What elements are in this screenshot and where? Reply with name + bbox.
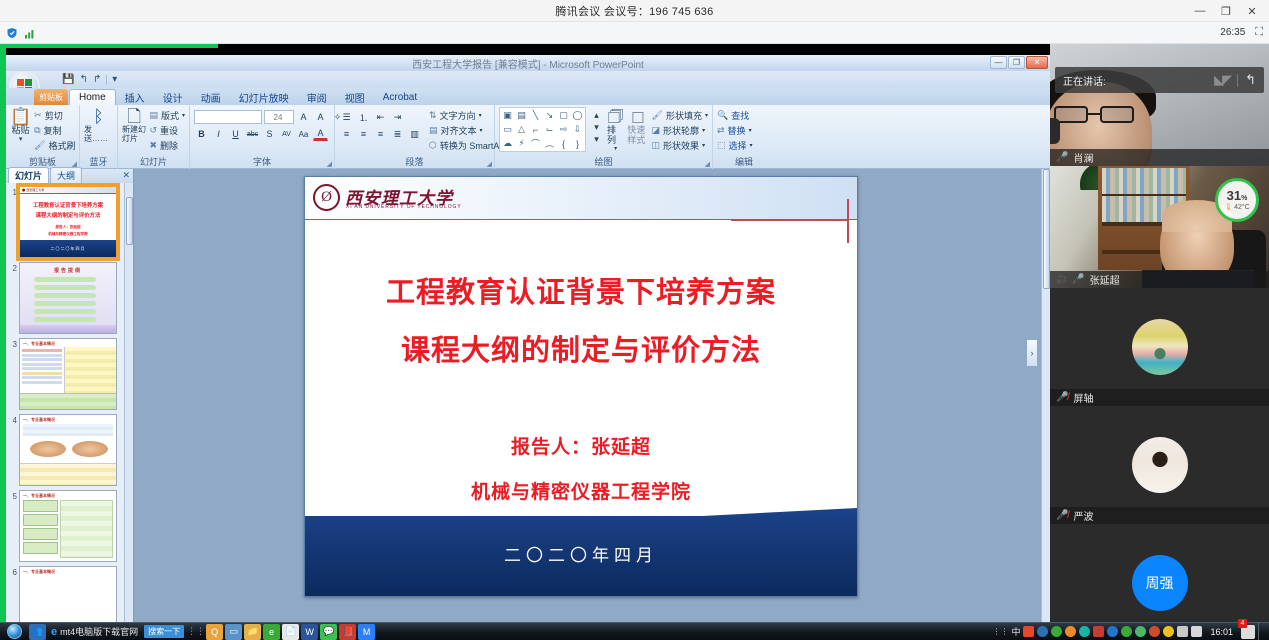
participant-avatar-tile[interactable]: 🎤̸ 严波 xyxy=(1050,406,1269,524)
pane-tab-slides[interactable]: 幻灯片 xyxy=(8,167,49,183)
meeting-timer: 26:35 xyxy=(1220,27,1245,38)
new-slide-button[interactable]: 🗋 新建幻灯片 xyxy=(122,107,146,144)
shape-effects-label: 形状效果 xyxy=(663,139,699,152)
shape-arrow-icon[interactable]: ↘ xyxy=(543,109,556,122)
copy-icon: ⧉ xyxy=(34,125,40,136)
start-orb-icon xyxy=(7,624,22,639)
window-icon: ▭ xyxy=(225,624,242,640)
battery-status-widget: 31% 🌡42°C xyxy=(1215,178,1259,222)
sogou-icon[interactable] xyxy=(1023,626,1034,637)
shape-triangle-icon[interactable]: △ xyxy=(515,123,528,136)
taskbar-item-folder[interactable]: 📁 xyxy=(244,624,261,640)
reset-icon: ↺ xyxy=(149,125,157,136)
shape-right-arrow-icon[interactable]: ⇨ xyxy=(557,123,570,136)
find-icon: 🔍 xyxy=(717,110,728,121)
camera-icon[interactable]: 🎥 xyxy=(1056,274,1067,285)
delete-icon: ✖ xyxy=(149,140,157,151)
shape-brace-left-icon[interactable]: { xyxy=(557,137,570,150)
network-icon[interactable] xyxy=(1177,626,1188,637)
slides-small-buttons: ▤版式▾ ↺重设 ✖删除 xyxy=(149,107,185,152)
teal-icon[interactable] xyxy=(1079,626,1090,637)
shield-icon[interactable] xyxy=(6,27,18,39)
thumbnail-scrollbar[interactable] xyxy=(124,183,133,622)
align-text-icon: ▤ xyxy=(429,125,438,136)
shape-fill-button[interactable]: 🖌形状填充▾ xyxy=(652,109,708,122)
shape-line-icon[interactable]: ╲ xyxy=(529,109,542,122)
font-group-label: 字体 xyxy=(190,155,334,168)
restore-button[interactable]: ❐ xyxy=(1213,0,1239,22)
brush-icon: 🖌 xyxy=(34,140,45,151)
canvas-scrollbar-thumb[interactable] xyxy=(1043,169,1050,289)
system-tray: ⋮⋮ 中 16:01 4 xyxy=(992,623,1269,640)
redo-icon[interactable]: ↱ xyxy=(93,74,101,85)
smartart-icon: ⬡ xyxy=(429,140,437,151)
ime-icon[interactable]: 中 xyxy=(1011,625,1020,638)
cut-button[interactable]: ✂剪切 xyxy=(34,109,75,122)
shrink-font-button[interactable]: A xyxy=(313,110,328,124)
columns-button[interactable]: ▥ xyxy=(407,127,422,141)
ie-window-title: mt4电脑版下载官网 xyxy=(60,625,138,638)
shapes-more-icon[interactable]: ▾ xyxy=(589,133,604,145)
slide-presenter: 报告人：张延超 xyxy=(305,432,857,459)
shapes-gallery[interactable]: ▣ ▤ ╲ ↘ ▢ ◯ ▭ △ ⌐ ⌙ ⇨ ⇩ ☁ ⚡ ⌒ xyxy=(499,107,586,152)
cut-label: 剪切 xyxy=(45,109,63,122)
shape-arc-icon[interactable]: ︵ xyxy=(543,137,556,150)
close-button[interactable]: ✕ xyxy=(1239,0,1265,22)
participant-video-tile[interactable]: 正在讲话: ◣◤ ↰ 🎤 肖澜 xyxy=(1050,44,1269,166)
thumbnail-number: 4 xyxy=(8,414,17,486)
pane-tab-strip: 幻灯片 大纲 ✕ xyxy=(6,169,133,183)
replace-label: 替换 xyxy=(728,124,746,137)
thumbnail-preview-4[interactable]: 一、专业基本情况 xyxy=(19,414,117,486)
paragraph-row-1: ☰ ⒈ ⇤ ⇥ xyxy=(339,110,422,124)
powerpoint-window-controls: — ❐ ✕ xyxy=(990,56,1048,69)
powerpoint-title-bar: 西安工程大学报告 [兼容模式] - Microsoft PowerPoint —… xyxy=(6,55,1050,71)
font-dialog-launcher[interactable]: ◢ xyxy=(327,160,332,168)
format-painter-label: 格式刷 xyxy=(49,139,76,152)
align-center-button[interactable]: ≡ xyxy=(356,127,371,141)
paste-button[interactable]: 📋 粘贴 ▾ xyxy=(10,107,31,144)
reset-button[interactable]: ↺重设 xyxy=(149,124,185,137)
collapse-chevrons-icon[interactable]: ◣◤ xyxy=(1214,72,1230,88)
undo-icon[interactable]: ↰ xyxy=(79,74,87,85)
delete-slide-button[interactable]: ✖删除 xyxy=(149,139,185,152)
drawing-dialog-launcher[interactable]: ◢ xyxy=(705,160,710,168)
shapes-scroll-up-icon[interactable]: ▴ xyxy=(589,109,604,121)
tab-animations[interactable]: 动画 xyxy=(192,89,230,105)
font-name-combo[interactable] xyxy=(194,110,262,124)
paste-icon: 📋 xyxy=(10,108,31,126)
notification-badge: 4 xyxy=(1238,619,1247,628)
microphone-muted-icon[interactable]: 🎤̸ xyxy=(1056,392,1068,403)
shapes-scroll-down-icon[interactable]: ▾ xyxy=(589,121,604,133)
taskbar-item-window[interactable]: ▭ xyxy=(225,624,242,640)
customize-qat-icon[interactable]: ▾ xyxy=(112,74,117,85)
arrange-dropdown-arrow[interactable]: ▾ xyxy=(614,146,617,153)
thumbnail-item[interactable]: 4 一、专业基本情况 xyxy=(8,414,122,486)
ribbon-group-slides: 🗋 新建幻灯片 ▤版式▾ ↺重设 ✖删除 幻灯片 xyxy=(118,105,190,169)
avatar xyxy=(1132,319,1188,375)
font-size-combo[interactable]: 24 xyxy=(264,110,294,124)
word-icon: W xyxy=(301,624,318,640)
delete-label: 删除 xyxy=(160,139,178,152)
bluetooth-send-button[interactable]: ᛒ 发送…… xyxy=(84,107,113,144)
slide-canvas: Ø 西安理工大学 XI'AN UNIVERSITY OF TECHNOLOGY … xyxy=(134,169,1050,622)
meeting-timer-area: 26:35 ⛶ xyxy=(1220,26,1263,39)
taskbar-item-meeting[interactable]: M xyxy=(358,624,375,640)
meeting-title: 腾讯会议 会议号：196 745 636 xyxy=(555,3,713,19)
font-row-2: B I U abc S AV Aa A xyxy=(194,127,328,141)
thumbnail-preview-3[interactable]: 一、专业基本情况 xyxy=(19,338,117,410)
taskbar-search-box[interactable]: 搜索一下 ⋮⋮ xyxy=(144,624,205,640)
shapes-scroll-buttons: ▴ ▾ ▾ xyxy=(589,107,604,145)
clipboard-small-buttons: ✂剪切 ⧉复制 🖌格式刷 xyxy=(34,107,75,152)
drawing-small-buttons: 🖌形状填充▾ ◪形状轮廓▾ ◫形状效果▾ xyxy=(652,107,708,152)
slide-title-line-1: 工程教育认证背景下培养方案 xyxy=(305,269,857,311)
current-slide[interactable]: Ø 西安理工大学 XI'AN UNIVERSITY OF TECHNOLOGY … xyxy=(304,176,858,597)
document-icon: 📄 xyxy=(282,624,299,640)
slide-decor-vertical xyxy=(847,199,849,243)
meeting-title-bar: 腾讯会议 会议号：196 745 636 — ❐ ✕ xyxy=(0,0,1269,22)
slides-thumbnail-pane: 幻灯片 大纲 ✕ 1 ⬤ 西安理工大学 工程教育认证背景下培养方案 课程大纲的制… xyxy=(6,169,134,622)
bluetooth-group-label: 蓝牙 xyxy=(80,155,117,168)
taskbar-item-wechat[interactable]: 💬 xyxy=(320,624,337,640)
thumbnail-item[interactable]: 2 报告提纲 xyxy=(8,262,122,334)
start-button[interactable] xyxy=(0,623,28,640)
paste-dropdown-arrow[interactable]: ▾ xyxy=(19,136,23,144)
ribbon-group-drawing: ▣ ▤ ╲ ↘ ▢ ◯ ▭ △ ⌐ ⌙ ⇨ ⇩ ☁ ⚡ ⌒ xyxy=(495,105,713,169)
ribbon-tab-strip: 剪贴板 Home 插入 设计 动画 幻灯片放映 审阅 视图 Acrobat xyxy=(6,88,1050,105)
arrange-button[interactable]: 🗇 排列 ▾ xyxy=(607,107,624,152)
microphone-muted-icon[interactable]: 🎤̸ xyxy=(1056,510,1068,521)
ribbon-group-paragraph: ☰ ⒈ ⇤ ⇥ ≡ ≡ ≡ ≣ ▥ xyxy=(335,105,495,169)
taskbar-item-browser[interactable]: e xyxy=(263,624,280,640)
shape-down-arrow-icon[interactable]: ⇩ xyxy=(571,123,584,136)
next-slide-arrow-icon[interactable]: › xyxy=(1026,339,1038,367)
grow-font-button[interactable]: A xyxy=(296,110,311,124)
shape-outline-label: 形状轮廓 xyxy=(663,124,699,137)
meeting-window-controls: — ❐ ✕ xyxy=(1187,0,1265,22)
bold-button[interactable]: B xyxy=(194,127,209,141)
editing-group-label: 编辑 xyxy=(713,155,775,168)
taskbar-item-reader[interactable]: 📕 xyxy=(339,624,356,640)
canvas-scrollbar[interactable] xyxy=(1041,169,1050,622)
participant-name: 严波 xyxy=(1073,508,1093,523)
replace-button[interactable]: ⇄替换▾ xyxy=(717,124,753,137)
arrange-icon: 🗇 xyxy=(608,108,624,126)
thumbnail-preview-1[interactable]: ⬤ 西安理工大学 工程教育认证背景下培养方案 课程大纲的制定与评价方法 报告人：… xyxy=(19,186,117,258)
people-icon: 👥 xyxy=(29,624,46,640)
taskbar-item-people[interactable]: 👥 xyxy=(29,624,46,640)
microphone-icon[interactable]: 🎤 xyxy=(1056,152,1068,163)
ie-icon: e xyxy=(51,626,57,638)
system-clock[interactable]: 16:01 xyxy=(1205,627,1238,637)
shape-elbow2-icon[interactable]: ⌙ xyxy=(543,123,556,136)
shape-curve-icon[interactable]: ⌒ xyxy=(529,137,542,150)
paragraph-align-buttons: ☰ ⒈ ⇤ ⇥ ≡ ≡ ≡ ≣ ▥ xyxy=(339,107,422,141)
paragraph-dialog-launcher[interactable]: ◢ xyxy=(487,160,492,168)
shape-rect-icon[interactable]: ▣ xyxy=(501,109,514,122)
avatar xyxy=(1132,437,1188,493)
text-direction-label: 文字方向 xyxy=(440,109,476,122)
layout-button[interactable]: ▤版式▾ xyxy=(149,109,185,122)
windows-taskbar: 👥 e mt4电脑版下载官网 搜索一下 ⋮⋮ Q ▭ 📁 e 📄 W 💬 📕 M… xyxy=(0,622,1269,640)
thumbnail-item[interactable]: 6 一、专业基本情况 xyxy=(8,566,122,622)
show-desktop-button[interactable] xyxy=(1258,623,1266,640)
find-button[interactable]: 🔍查找 xyxy=(717,109,753,122)
character-spacing-button[interactable]: AV xyxy=(279,127,294,141)
scissors-icon: ✂ xyxy=(34,110,42,121)
text-direction-icon: ⇅ xyxy=(429,110,437,121)
thumbnail-item[interactable]: 5 一、专业基本情况 xyxy=(8,490,122,562)
taskbar-item-qq[interactable]: Q xyxy=(206,624,223,640)
shared-screen-area: 西安工程大学报告 [兼容模式] - Microsoft PowerPoint —… xyxy=(0,44,1050,622)
powerpoint-document-title: 西安工程大学报告 [兼容模式] - Microsoft PowerPoint xyxy=(412,56,644,71)
thermometer-icon: 🌡 xyxy=(1224,203,1233,211)
battery-percent-value: 31 xyxy=(1227,188,1241,203)
tab-design[interactable]: 设计 xyxy=(154,89,192,105)
meeting-icon: M xyxy=(358,624,375,640)
change-case-button[interactable]: Aa xyxy=(296,127,311,141)
thumbnail-preview-6[interactable]: 一、专业基本情况 xyxy=(19,566,117,622)
tab-acrobat-orange[interactable]: 剪贴板 xyxy=(34,89,68,105)
thumbnail-number: 3 xyxy=(8,338,17,410)
minimize-button[interactable]: — xyxy=(1187,0,1213,22)
battery-temperature: 🌡42°C xyxy=(1224,203,1250,211)
speaking-indicator-bar: 正在讲话: ◣◤ ↰ xyxy=(1055,67,1264,93)
slide-title-line-2: 课程大纲的制定与评价方法 xyxy=(305,327,857,369)
books-row-1 xyxy=(1102,168,1186,194)
shape-elbow-icon[interactable]: ⌐ xyxy=(529,123,542,136)
qq-icon: Q xyxy=(206,624,223,640)
copy-button[interactable]: ⧉复制 xyxy=(34,124,75,137)
align-left-button[interactable]: ≡ xyxy=(339,127,354,141)
tab-review[interactable]: 审阅 xyxy=(298,89,336,105)
text-shadow-button[interactable]: S xyxy=(262,127,277,141)
volume-icon[interactable] xyxy=(1191,626,1202,637)
orange-circle-icon[interactable] xyxy=(1065,626,1076,637)
paste-label: 粘贴 xyxy=(12,126,30,136)
ribbon-body: 📋 粘贴 ▾ ✂剪切 ⧉复制 🖌格式刷 剪贴板 ◢ xyxy=(6,105,1050,169)
avatar-initials: 周强 xyxy=(1146,573,1174,593)
ribbon-group-editing: 🔍查找 ⇄替换▾ ⬚选择▾ 编辑 xyxy=(713,105,775,169)
thumbnail-number: 1 xyxy=(8,186,17,258)
slides-group-label: 幻灯片 xyxy=(118,155,189,168)
ribbon-group-bluetooth: ᛒ 发送…… 蓝牙 xyxy=(80,105,118,169)
format-painter-button[interactable]: 🖌格式刷 xyxy=(34,139,75,152)
folder-icon: 📁 xyxy=(244,624,261,640)
battery-percent-symbol: % xyxy=(1241,195,1247,202)
green-e-icon[interactable] xyxy=(1121,626,1132,637)
participant-name: 张延超 xyxy=(1090,272,1120,287)
ribbon-group-font: 24 A A ✧ B I U abc S AV Aa A xyxy=(190,105,335,169)
font-color-button[interactable]: A xyxy=(313,127,328,141)
thumbnail-number: 2 xyxy=(8,262,17,334)
speaking-label: 正在讲话: xyxy=(1063,73,1106,88)
select-label: 选择 xyxy=(729,139,747,152)
microphone-icon[interactable]: 🎤 xyxy=(1072,274,1084,285)
thumbnail-preview-5[interactable]: 一、专业基本情况 xyxy=(19,490,117,562)
thumbnail-list[interactable]: 1 ⬤ 西安理工大学 工程教育认证背景下培养方案 课程大纲的制定与评价方法 报告… xyxy=(6,183,124,622)
green-shield-icon[interactable] xyxy=(1051,626,1062,637)
back-arrow-icon[interactable]: ↰ xyxy=(1245,72,1256,88)
search-grip-icon: ⋮⋮ xyxy=(184,626,205,637)
avatar: 周强 xyxy=(1132,555,1188,611)
participant-name: 肖澜 xyxy=(1073,150,1093,165)
numbering-button[interactable]: ⒈ xyxy=(356,110,371,124)
tab-slideshow[interactable]: 幻灯片放映 xyxy=(230,89,298,105)
shape-textbox-icon[interactable]: ▤ xyxy=(515,109,528,122)
slide-date: 二〇二〇年四月 xyxy=(305,541,857,566)
select-button[interactable]: ⬚选择▾ xyxy=(717,139,753,152)
select-icon: ⬚ xyxy=(717,140,726,151)
participant-avatar-tile[interactable]: 🎤̸ 屏轴 xyxy=(1050,288,1269,406)
ribbon-group-clipboard: 📋 粘贴 ▾ ✂剪切 ⧉复制 🖌格式刷 剪贴板 ◢ xyxy=(6,105,80,169)
pane-close-icon[interactable]: ✕ xyxy=(122,170,130,181)
quick-styles-button[interactable]: ◻ 快速样式 xyxy=(627,107,648,146)
battery-temperature-value: 42°C xyxy=(1234,204,1250,211)
glasses-icon xyxy=(1054,106,1138,123)
shape-fill-label: 形状填充 xyxy=(666,109,702,122)
paragraph-row-2: ≡ ≡ ≡ ≣ ▥ xyxy=(339,127,422,141)
paragraph-group-label: 段落 xyxy=(335,155,494,168)
drawing-group-label: 绘图 xyxy=(495,155,712,168)
save-icon[interactable]: 💾 xyxy=(62,74,74,85)
participant-name-bar: 🎥 🎤 张延超 xyxy=(1050,271,1269,288)
replace-icon: ⇄ xyxy=(717,125,725,136)
cloud-icon[interactable] xyxy=(1135,626,1146,637)
participant-name: 屏轴 xyxy=(1073,390,1093,405)
participant-name-bar: 🎤̸ 屏轴 xyxy=(1050,389,1269,406)
globe-icon[interactable] xyxy=(1037,626,1048,637)
shape-rect2-icon[interactable]: ▭ xyxy=(501,123,514,136)
thumbnail-item[interactable]: 3 一、专业基本情况 xyxy=(8,338,122,410)
tab-acrobat[interactable]: Acrobat xyxy=(374,89,426,105)
headset-icon xyxy=(1050,118,1060,144)
shape-fill-icon: 🖌 xyxy=(652,110,663,121)
thumbnail-item[interactable]: 1 ⬤ 西安理工大学 工程教育认证背景下培养方案 课程大纲的制定与评价方法 报告… xyxy=(8,186,122,258)
shape-brace-right-icon[interactable]: } xyxy=(571,137,584,150)
quick-styles-label: 快速样式 xyxy=(627,126,648,146)
icon-divider xyxy=(1237,74,1238,87)
signal-icon[interactable] xyxy=(24,27,36,39)
arrange-label: 排列 xyxy=(607,126,624,146)
meeting-sub-toolbar: 26:35 ⛶ xyxy=(0,22,1269,44)
shape-outline-icon: ◪ xyxy=(652,125,661,136)
sharing-border-top xyxy=(6,44,218,48)
find-label: 查找 xyxy=(731,109,749,122)
ppt-restore-button[interactable]: ❐ xyxy=(1008,56,1025,69)
qat-divider xyxy=(106,75,107,85)
underline-button[interactable]: U xyxy=(228,127,243,141)
font-row-1: 24 A A ✧ xyxy=(194,110,345,124)
shape-outline-button[interactable]: ◪形状轮廓▾ xyxy=(652,124,708,137)
align-text-label: 对齐文本 xyxy=(441,124,477,137)
reset-label: 重设 xyxy=(160,124,178,137)
tab-insert[interactable]: 插入 xyxy=(116,89,154,105)
layout-label: 版式 xyxy=(161,109,179,122)
increase-indent-button[interactable]: ⇥ xyxy=(390,110,405,124)
acrobat-icon[interactable] xyxy=(1093,626,1104,637)
editing-buttons: 🔍查找 ⇄替换▾ ⬚选择▾ xyxy=(717,107,753,152)
justify-button[interactable]: ≣ xyxy=(390,127,405,141)
new-slide-icon: 🗋 xyxy=(127,108,141,126)
new-slide-label: 新建幻灯片 xyxy=(122,126,146,144)
edge-icon: e xyxy=(263,624,280,640)
thumbnail-number: 5 xyxy=(8,490,17,562)
battery-percent: 31% xyxy=(1227,189,1248,202)
copy-label: 复制 xyxy=(44,124,62,137)
powerpoint-work-area: 幻灯片 大纲 ✕ 1 ⬤ 西安理工大学 工程教育认证背景下培养方案 课程大纲的制… xyxy=(6,169,1050,622)
thumbnail-number: 6 xyxy=(8,566,17,622)
slide-decor-horizontal xyxy=(731,219,849,221)
yellow-icon[interactable] xyxy=(1163,626,1174,637)
thumbnail-preview-2[interactable]: 报告提纲 xyxy=(19,262,117,334)
bullets-button[interactable]: ☰ xyxy=(339,110,354,124)
thumbnail-scrollbar-thumb[interactable] xyxy=(126,197,133,245)
ppt-minimize-button[interactable]: — xyxy=(990,56,1007,69)
taskbar-item-document[interactable]: 📄 xyxy=(282,624,299,640)
pane-tab-outline[interactable]: 大纲 xyxy=(50,167,82,183)
participant-name-bar: 🎤̸ 严波 xyxy=(1050,507,1269,524)
shape-bolt-icon[interactable]: ⚡ xyxy=(515,137,528,150)
wechat-icon: 💬 xyxy=(320,624,337,640)
shape-cloud-icon[interactable]: ☁ xyxy=(501,137,514,150)
meeting-status-icons xyxy=(0,27,36,39)
university-logo-icon: Ø xyxy=(313,184,340,211)
shape-oval-icon[interactable]: ◯ xyxy=(571,109,584,122)
notification-icon[interactable]: 4 xyxy=(1241,625,1255,639)
taskbar-item-ie[interactable]: e mt4电脑版下载官网 xyxy=(47,624,142,640)
participant-name-bar: 🎤 肖澜 xyxy=(1050,149,1269,166)
strikethrough-button[interactable]: abc xyxy=(245,127,260,141)
speaking-bar-icons: ◣◤ ↰ xyxy=(1214,72,1256,88)
participants-sidebar: 正在讲话: ◣◤ ↰ 🎤 肖澜 31% 🌡42°C xyxy=(1050,44,1269,640)
quick-styles-icon: ◻ xyxy=(631,108,645,126)
layout-icon: ▤ xyxy=(149,110,158,121)
align-right-button[interactable]: ≡ xyxy=(373,127,388,141)
bluetooth-icon[interactable] xyxy=(1107,626,1118,637)
bluetooth-send-label: 发送…… xyxy=(84,126,113,144)
university-name-en: XI'AN UNIVERSITY OF TECHNOLOGY xyxy=(346,204,462,210)
decrease-indent-button[interactable]: ⇤ xyxy=(373,110,388,124)
search-button[interactable]: 搜索一下 xyxy=(144,625,184,638)
red-user-icon[interactable] xyxy=(1149,626,1160,637)
tray-grip-icon[interactable]: ⋮⋮ xyxy=(992,627,1008,636)
italic-button[interactable]: I xyxy=(211,127,226,141)
tab-home[interactable]: Home xyxy=(69,89,116,105)
fullscreen-icon[interactable]: ⛶ xyxy=(1255,26,1263,39)
powerpoint-window: 西安工程大学报告 [兼容模式] - Microsoft PowerPoint —… xyxy=(6,55,1050,622)
shape-square-icon[interactable]: ▢ xyxy=(557,109,570,122)
shape-effects-icon: ◫ xyxy=(652,140,661,151)
ppt-close-button[interactable]: ✕ xyxy=(1026,56,1048,69)
bluetooth-icon: ᛒ xyxy=(93,108,103,126)
taskbar-item-word[interactable]: W xyxy=(301,624,318,640)
reader-icon: 📕 xyxy=(339,624,356,640)
shape-effects-button[interactable]: ◫形状效果▾ xyxy=(652,139,708,152)
tab-view[interactable]: 视图 xyxy=(336,89,374,105)
quick-access-toolbar: 💾 ↰ ↱ ▾ xyxy=(6,71,1050,88)
participant-video-tile[interactable]: 31% 🌡42°C 🎥 🎤 张延超 xyxy=(1050,166,1269,288)
slide-department: 机械与精密仪器工程学院 xyxy=(305,477,857,504)
